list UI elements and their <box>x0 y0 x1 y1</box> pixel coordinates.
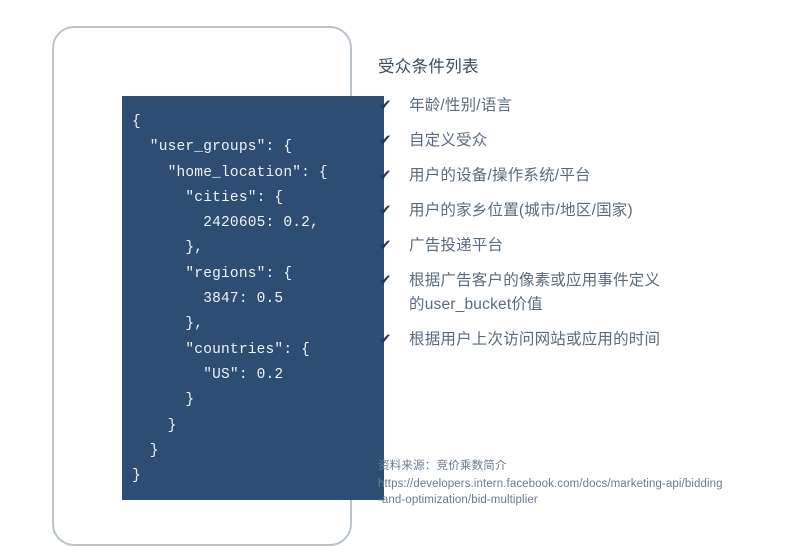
source-attribution: 资料来源：竞价乘数简介 https://developers.intern.fa… <box>378 458 793 508</box>
check-icon: ✔ <box>378 129 409 153</box>
list-item-label: 广告投递平台 <box>409 234 778 258</box>
check-icon: ✔ <box>378 234 409 258</box>
source-url-line2: -and-optimization/bid-multiplier <box>378 492 793 508</box>
list-item: ✔ 根据用户上次访问网站或应用的时间 <box>378 328 778 352</box>
check-icon: ✔ <box>378 199 409 223</box>
source-url: https://developers.intern.facebook.com/d… <box>378 476 793 508</box>
list-item: ✔ 自定义受众 <box>378 129 778 153</box>
list-title: 受众条件列表 <box>378 56 778 78</box>
source-url-line1: https://developers.intern.facebook.com/d… <box>378 476 793 492</box>
list-item: ✔ 年龄/性别/语言 <box>378 94 778 118</box>
check-icon: ✔ <box>378 164 409 188</box>
check-icon: ✔ <box>378 94 409 118</box>
list-item-label: 自定义受众 <box>409 129 778 153</box>
list-item: ✔ 用户的设备/操作系统/平台 <box>378 164 778 188</box>
list-item-label-line1: 根据广告客户的像素或应用事件定义 <box>409 269 778 293</box>
list-item-label: 根据广告客户的像素或应用事件定义 的user_bucket价值 <box>409 269 778 317</box>
list-item-label: 年龄/性别/语言 <box>409 94 778 118</box>
list-item-label-line2: 的user_bucket价值 <box>409 293 778 317</box>
list-item: ✔ 用户的家乡位置(城市/地区/国家) <box>378 199 778 223</box>
list-item-label: 用户的设备/操作系统/平台 <box>409 164 778 188</box>
audience-conditions-section: 受众条件列表 ✔ 年龄/性别/语言 ✔ 自定义受众 ✔ 用户的设备/操作系统/平… <box>378 56 778 363</box>
list-item-label: 用户的家乡位置(城市/地区/国家) <box>409 199 778 223</box>
list-item: ✔ 根据广告客户的像素或应用事件定义 的user_bucket价值 <box>378 269 778 317</box>
list-item: ✔ 广告投递平台 <box>378 234 778 258</box>
check-icon: ✔ <box>378 328 409 352</box>
list-item-label: 根据用户上次访问网站或应用的时间 <box>409 328 778 352</box>
json-code-block: { "user_groups": { "home_location": { "c… <box>132 110 374 489</box>
phone-mockup-frame: { "user_groups": { "home_location": { "c… <box>52 26 352 546</box>
condition-list: ✔ 年龄/性别/语言 ✔ 自定义受众 ✔ 用户的设备/操作系统/平台 ✔ 用户的… <box>378 94 778 352</box>
check-icon: ✔ <box>378 269 409 293</box>
code-panel: { "user_groups": { "home_location": { "c… <box>122 96 384 500</box>
source-label: 资料来源：竞价乘数简介 <box>378 458 793 475</box>
